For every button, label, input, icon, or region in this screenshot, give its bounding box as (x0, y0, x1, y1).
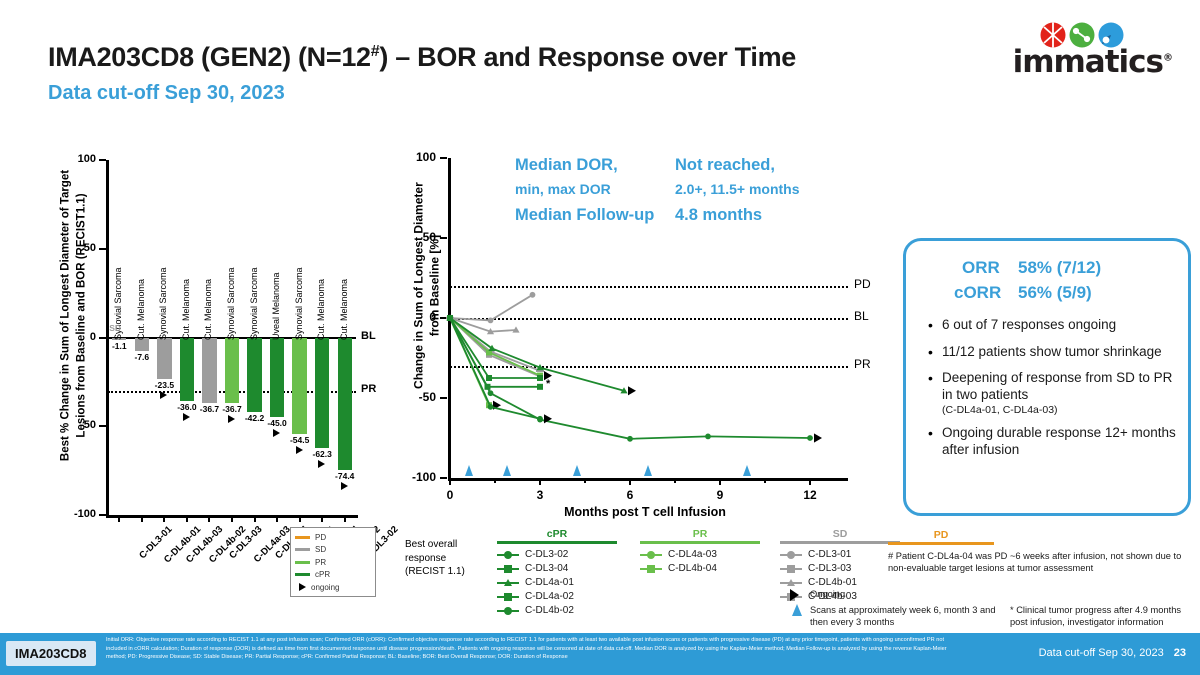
spider-data-point[interactable] (537, 384, 543, 390)
spider-y-axis-label: Change in Sum of Longest Diameter from B… (411, 171, 442, 401)
waterfall-bar[interactable] (270, 338, 284, 418)
spider-y-tick-label: 100 (398, 150, 436, 164)
bor-legend-item[interactable]: C-DL4a-01 (497, 576, 617, 590)
summary-bullet-text: 11/12 patients show tumor shrinkage (942, 344, 1178, 361)
waterfall-ongoing-icon (183, 413, 190, 421)
waterfall-y-tick (99, 337, 106, 339)
spider-y-tick (440, 397, 447, 399)
bor-legend-marker (497, 564, 519, 574)
summary-box: ORR 58% (7/12) cORR 56% (5/9) •6 out of … (903, 238, 1191, 516)
scan-marker-icon (573, 465, 581, 476)
bor-legend-rule (497, 541, 617, 544)
waterfall-legend-item: cPR (295, 569, 371, 582)
bor-legend-marker (640, 550, 662, 560)
waterfall-histology-label: Cut. Melanoma (339, 278, 349, 339)
waterfall-bar[interactable] (202, 338, 216, 403)
spider-x-tick-label: 12 (801, 488, 819, 502)
waterfall-ongoing-icon (341, 482, 348, 490)
spider-series-layer (450, 158, 870, 482)
spider-data-point[interactable] (627, 436, 633, 442)
spider-data-point[interactable] (537, 375, 543, 381)
bor-legend-patient-id: C-DL4b-02 (525, 605, 574, 616)
waterfall-reference-label-pr: PR (361, 383, 376, 395)
spider-y-tick (440, 317, 447, 319)
scan-marker-icon (743, 465, 751, 476)
waterfall-legend-ongoing: ongoing (295, 581, 371, 594)
page-title-main: IMA203CD8 (GEN2) (N=12 (48, 42, 371, 72)
waterfall-plot-area: 100500-50-100BLPR-1.1Synovial SarcomaC-D… (108, 160, 356, 515)
pd-legend-rule (888, 542, 994, 545)
spider-kpi-value: 2.0+, 11.5+ months (675, 181, 800, 197)
scans-footnote-row: Scans at approximately week 6, month 3 a… (788, 604, 1200, 628)
waterfall-histology-label: Cut. Melanoma (181, 278, 191, 339)
waterfall-histology-label: Cut. Melanoma (203, 278, 213, 339)
corr-label: cORR (954, 283, 1001, 303)
bullet-icon: • (928, 370, 942, 388)
pd-footnote-block: PD # Patient C-DL4a-04 was PD ~6 weeks a… (888, 528, 1194, 575)
spider-chart: Change in Sum of Longest Diameter from B… (385, 150, 885, 530)
immatics-logo: immatics® (1022, 22, 1172, 80)
legend-label: PR (315, 558, 326, 567)
spider-x-axis-label: Months post T cell Infusion (450, 505, 840, 519)
bor-legend-patient-id: C-DL4a-02 (525, 591, 574, 602)
spider-kpi-label: min, max DOR (515, 181, 611, 197)
spider-y-tick-label: -50 (398, 390, 436, 404)
waterfall-sd-annotation: SD (109, 323, 121, 333)
bor-legend-marker (497, 550, 519, 560)
spider-x-tick-label: 6 (621, 488, 639, 502)
orr-label: ORR (962, 258, 1000, 278)
bor-legend-group: PRC-DL4a-03C-DL4b-04 (640, 528, 760, 576)
waterfall-histology-label: Synovial Sarcoma (294, 267, 304, 340)
bor-legend-item[interactable]: C-DL4b-02 (497, 604, 617, 618)
waterfall-legend-item: PD (295, 531, 371, 544)
page-subtitle: Data cut-off Sep 30, 2023 (48, 82, 285, 105)
waterfall-y-tick-label: -100 (60, 508, 96, 520)
summary-bullet: •6 out of 7 responses ongoing (928, 317, 1178, 335)
hash-footnote: # Patient C-DL4a-04 was PD ~6 weeks afte… (888, 550, 1194, 575)
waterfall-histology-label: Uveal Melanoma (271, 272, 281, 340)
bullet-icon: • (928, 425, 942, 443)
slide-root: IMA203CD8 (GEN2) (N=12#) – BOR and Respo… (0, 0, 1200, 675)
bor-legend-patient-id: C-DL3-04 (525, 563, 568, 574)
bor-legend-marker (780, 550, 802, 560)
bor-legend-marker (497, 592, 519, 602)
spider-kpi-value: 4.8 months (675, 206, 762, 225)
bor-legend-item[interactable]: C-DL3-04 (497, 562, 617, 576)
page-title-tail: ) – BOR and Response over Time (379, 42, 796, 72)
legend-label: PD (315, 533, 326, 542)
spider-data-point[interactable] (537, 416, 543, 422)
legend-swatch (295, 573, 310, 576)
scan-marker-icon (788, 604, 810, 617)
summary-bullet: •Ongoing durable response 12+ months aft… (928, 425, 1178, 459)
scan-marker-icon (465, 465, 473, 476)
footer-abbreviations: Initial ORR: Objective response rate acc… (106, 636, 966, 662)
waterfall-y-tick-label: 0 (60, 331, 96, 343)
logo-text: immatics (1013, 44, 1163, 80)
bor-legend-marker (780, 578, 802, 588)
footer-bar: IMA203CD8 Initial ORR: Objective respons… (0, 633, 1200, 675)
waterfall-bar[interactable] (157, 338, 171, 380)
bor-legend-patient-id: C-DL3-03 (808, 563, 851, 574)
waterfall-ongoing-icon (318, 460, 325, 468)
bor-legend-item[interactable]: C-DL4b-04 (640, 562, 760, 576)
waterfall-y-tick-label: 100 (60, 153, 96, 165)
spider-y-tick (440, 157, 447, 159)
summary-bullet: •Deepening of response from SD to PR in … (928, 370, 1178, 416)
bor-legend-item[interactable]: C-DL3-03 (780, 562, 900, 576)
scan-marker-icon (503, 465, 511, 476)
waterfall-reference-label-bl: BL (361, 330, 376, 342)
spider-y-tick (440, 237, 447, 239)
waterfall-legend: PDSDPRcPRongoing (290, 527, 376, 597)
legend-label: ongoing (311, 583, 339, 592)
waterfall-bar[interactable] (338, 338, 352, 470)
bor-legend-marker (497, 578, 519, 588)
bor-legend-patient-id: C-DL4b-04 (668, 563, 717, 574)
ongoing-triangle-icon (299, 583, 306, 591)
bor-legend-marker (640, 564, 662, 574)
spider-y-tick-label: -100 (398, 470, 436, 484)
bullet-icon: • (928, 344, 942, 362)
waterfall-bar[interactable] (247, 338, 261, 413)
waterfall-histology-label: Cut. Melanoma (316, 278, 326, 339)
bor-legend-group-head: SD (780, 528, 900, 540)
scan-marker-icon (644, 465, 652, 476)
bor-legend-patient-id: C-DL4a-01 (525, 577, 574, 588)
spider-data-point[interactable] (488, 390, 494, 396)
symbol-footnotes: Ongoing Scans at approximately week 6, m… (788, 588, 1200, 631)
waterfall-bar[interactable] (180, 338, 194, 402)
spider-data-point[interactable] (447, 315, 453, 321)
bor-legend-group: cPRC-DL3-02C-DL3-04C-DL4a-01C-DL4a-02C-D… (497, 528, 617, 618)
spider-data-point[interactable] (485, 384, 491, 390)
spider-kpi-value: Not reached, (675, 156, 775, 175)
waterfall-legend-item: SD (295, 544, 371, 557)
legend-swatch (295, 548, 310, 551)
spider-y-tick-label: 0 (398, 310, 436, 324)
waterfall-y-tick (99, 159, 106, 161)
bor-legend-patient-id: C-DL3-01 (808, 549, 851, 560)
scans-footnote-text: Scans at approximately week 6, month 3 a… (810, 604, 1010, 628)
legend-label: SD (315, 545, 326, 554)
waterfall-y-tick (99, 248, 106, 250)
orr-value: 58% (7/12) (1018, 258, 1101, 278)
spider-x-tick-label: 3 (531, 488, 549, 502)
bor-legend-item[interactable]: C-DL4a-03 (640, 548, 760, 562)
summary-bullet-text: 6 out of 7 responses ongoing (942, 317, 1178, 334)
corr-value: 56% (5/9) (1018, 283, 1092, 303)
waterfall-legend-item: PR (295, 556, 371, 569)
pd-legend-head: PD (896, 528, 986, 542)
ongoing-footnote-row: Ongoing (788, 588, 1200, 601)
bor-legend-marker (497, 606, 519, 616)
summary-bullet-subtext: (C-DL4a-01, C-DL4a-03) (942, 404, 1178, 417)
spider-data-point[interactable] (488, 318, 494, 324)
summary-bullet-list: •6 out of 7 responses ongoing•11/12 pati… (928, 317, 1178, 468)
legend-label: cPR (315, 570, 330, 579)
logo-wordmark: immatics® (1013, 44, 1172, 80)
legend-swatch (295, 536, 310, 539)
spider-data-point[interactable] (486, 375, 492, 381)
waterfall-y-tick-label: -50 (60, 419, 96, 431)
waterfall-bar[interactable] (225, 338, 239, 403)
spider-star-annotation: * (546, 378, 550, 390)
bor-legend-item[interactable]: C-DL3-02 (497, 548, 617, 562)
footer-page-number: 23 (1174, 647, 1186, 659)
spider-data-point[interactable] (705, 434, 711, 440)
footer-program-tag: IMA203CD8 (6, 641, 96, 666)
bor-legend-rule (780, 541, 900, 544)
spider-x-tick-label: 9 (711, 488, 729, 502)
bor-legend-group-head: PR (640, 528, 760, 540)
ongoing-triangle-icon (788, 588, 810, 601)
waterfall-histology-label: Synovial Sarcoma (158, 267, 168, 340)
spider-kpi-label: Median Follow-up (515, 206, 654, 225)
waterfall-histology-label: Synovial Sarcoma (249, 267, 259, 340)
waterfall-ongoing-icon (160, 391, 167, 399)
spider-data-point[interactable] (488, 404, 494, 410)
summary-bullet: •11/12 patients show tumor shrinkage (928, 344, 1178, 362)
spider-data-point[interactable] (530, 292, 536, 298)
legend-swatch (295, 561, 310, 564)
bor-legend-title: Best overall response (RECIST 1.1) (405, 538, 485, 579)
bor-legend-item[interactable]: C-DL3-01 (780, 548, 900, 562)
bor-legend-patient-id: C-DL3-02 (525, 549, 568, 560)
waterfall-x-axis (106, 515, 358, 518)
footer-right: Data cut-off Sep 30, 202323 (1039, 647, 1186, 659)
spider-x-tick-label: 0 (441, 488, 459, 502)
star-footnote-text: * Clinical tumor progress after 4.9 mont… (1010, 604, 1195, 628)
waterfall-bar-value: -74.4 (323, 471, 367, 481)
waterfall-y-tick-label: 50 (60, 242, 96, 254)
waterfall-bar[interactable] (292, 338, 306, 435)
bor-legend-rule (640, 541, 760, 544)
spider-y-tick-label: 50 (398, 230, 436, 244)
bor-legend-group-head: cPR (497, 528, 617, 540)
spider-kpi-label: Median DOR, (515, 156, 618, 175)
spider-line[interactable] (450, 295, 533, 321)
footer-cutoff: Data cut-off Sep 30, 2023 (1039, 647, 1164, 659)
waterfall-histology-label: Synovial Sarcoma (226, 267, 236, 340)
bor-legend-patient-id: C-DL4a-03 (668, 549, 717, 560)
summary-bullet-text: Ongoing durable response 12+ months afte… (942, 425, 1178, 459)
logo-registered-icon: ® (1163, 53, 1172, 64)
bor-legend-item[interactable]: C-DL4a-02 (497, 590, 617, 604)
ongoing-footnote-text: Ongoing (810, 588, 845, 600)
bor-legend-marker (780, 564, 802, 574)
bullet-icon: • (928, 317, 942, 335)
bor-legend-patient-id: C-DL4b-01 (808, 577, 857, 588)
waterfall-y-tick (99, 514, 106, 516)
waterfall-histology-label: Cut. Melanoma (136, 278, 146, 339)
summary-bullet-text: Deepening of response from SD to PR in t… (942, 370, 1178, 404)
spider-data-point[interactable] (807, 435, 813, 441)
page-title: IMA203CD8 (GEN2) (N=12#) – BOR and Respo… (48, 42, 796, 73)
spider-ongoing-icon (628, 386, 636, 395)
spider-ongoing-icon (814, 433, 822, 442)
waterfall-y-tick (99, 425, 106, 427)
waterfall-bar[interactable] (315, 338, 329, 449)
spider-y-tick (440, 477, 447, 479)
